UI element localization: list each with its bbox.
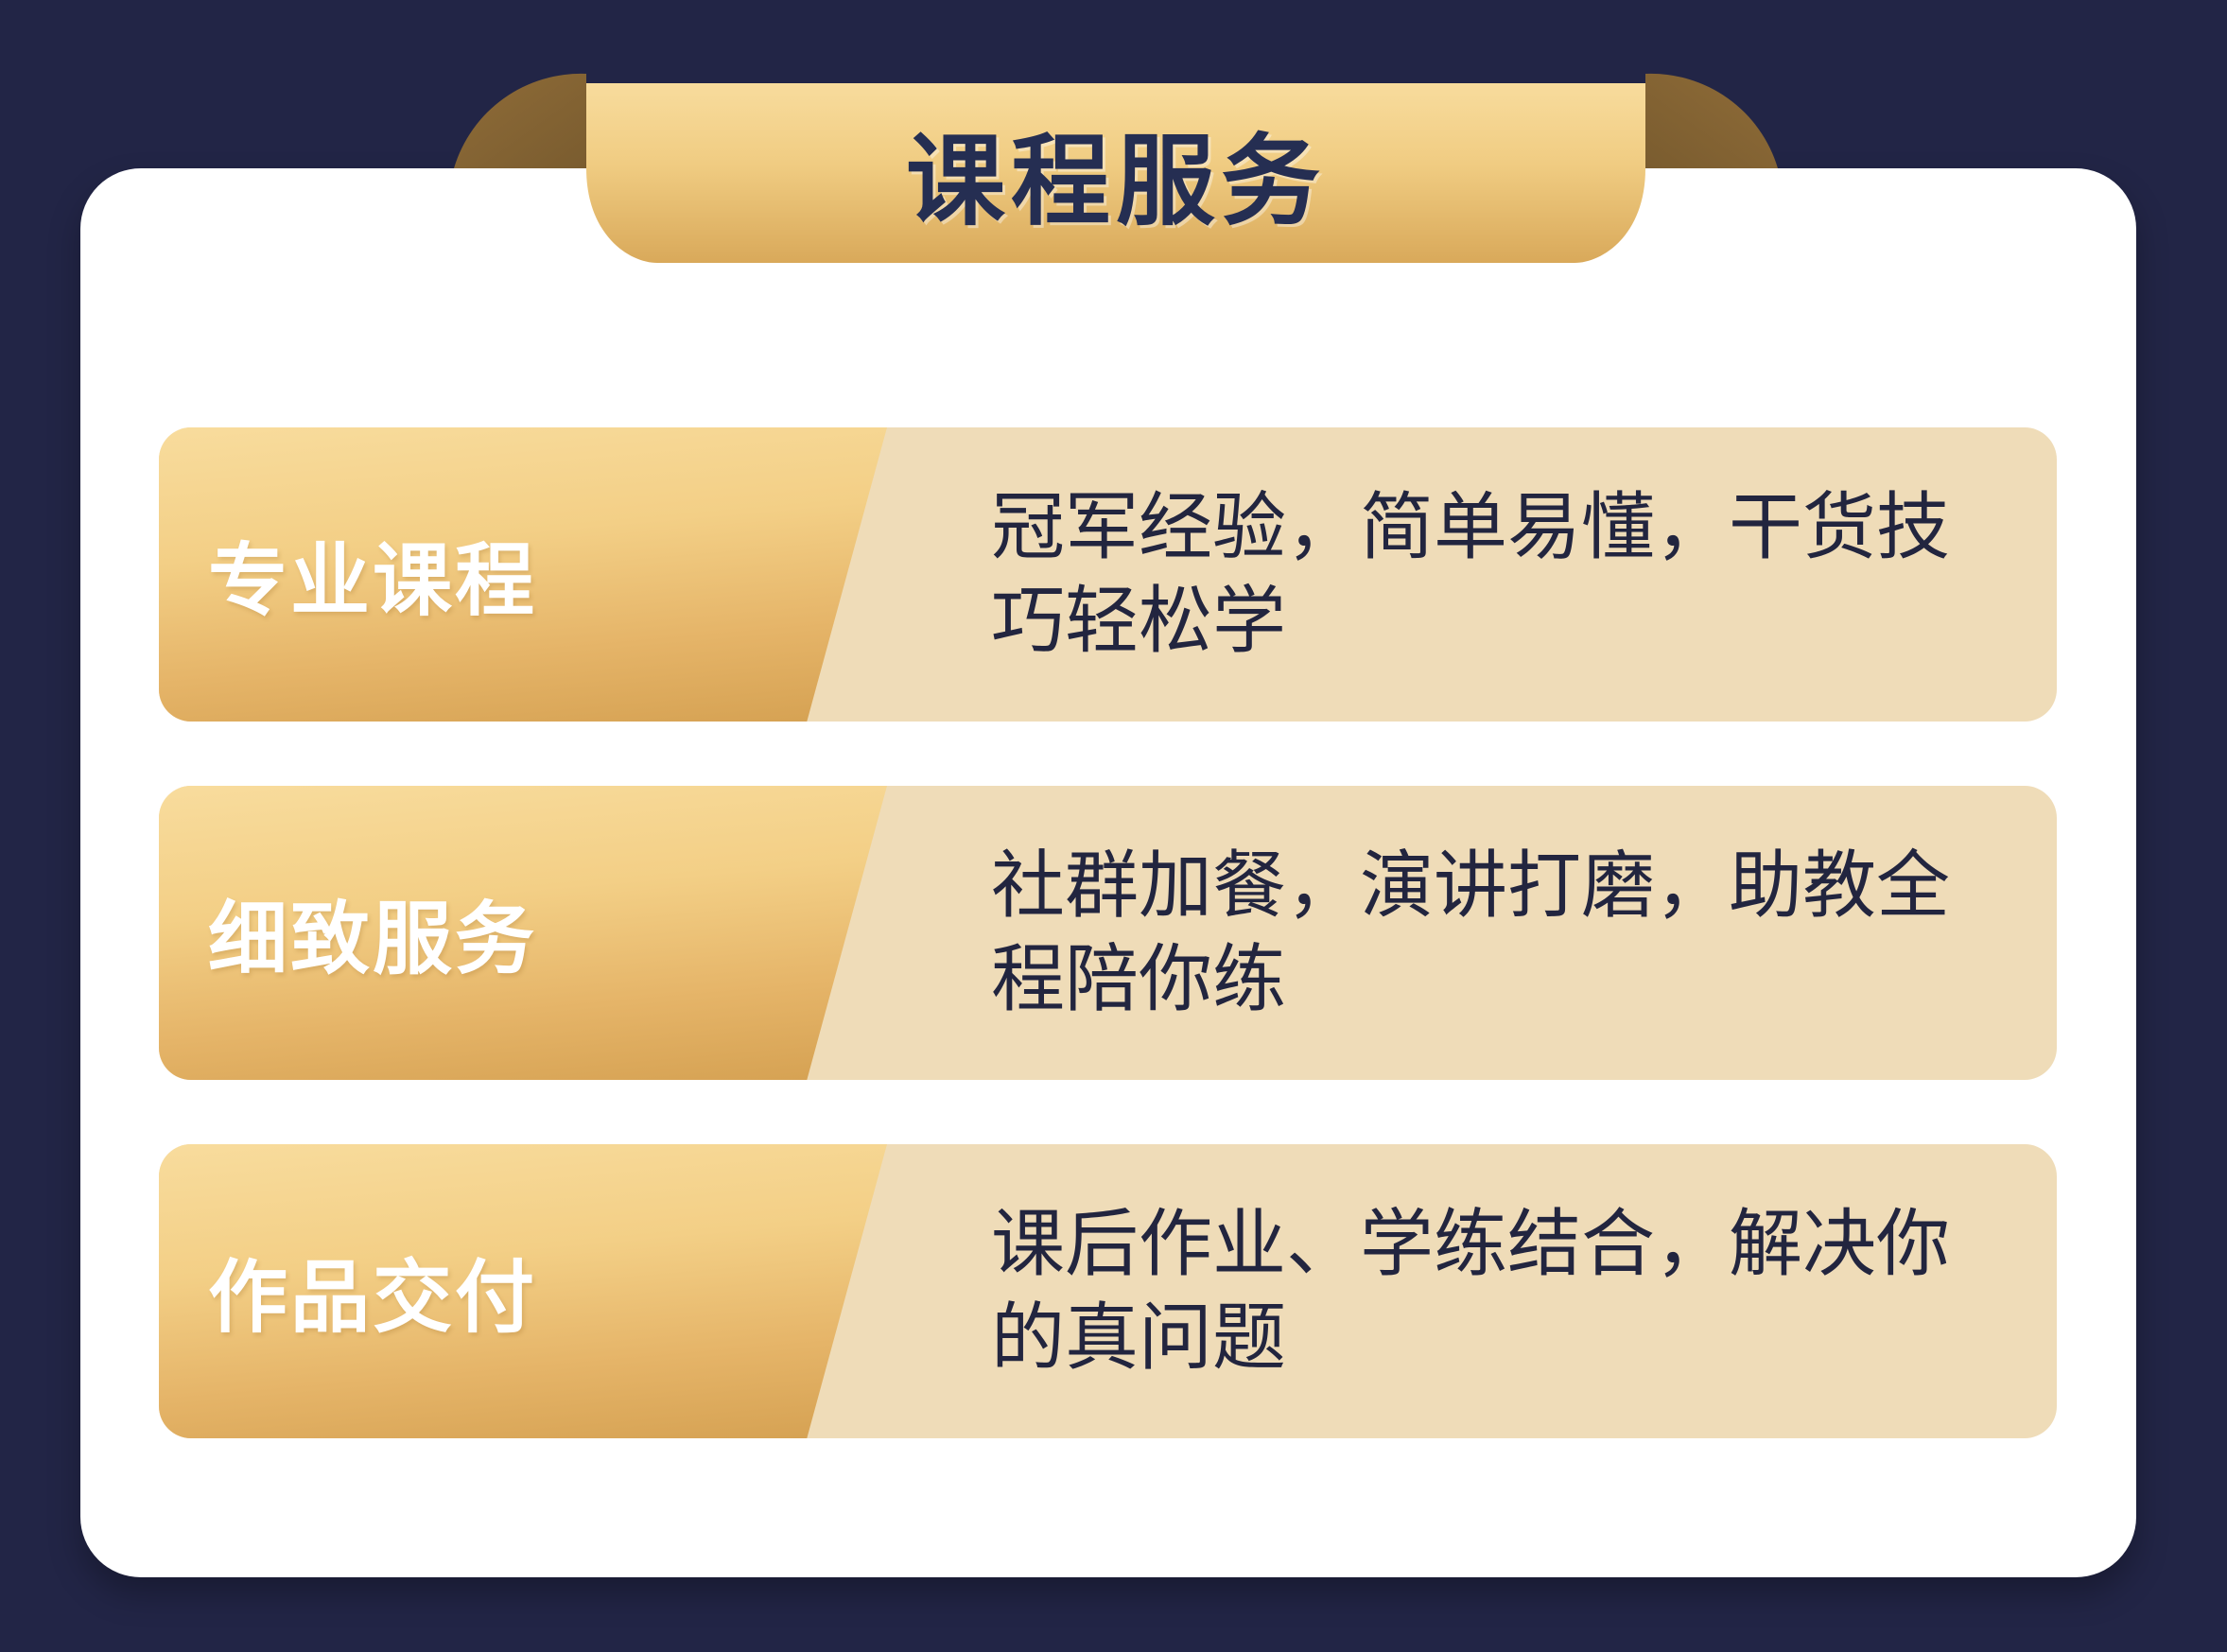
banner-title: 课程服务 [454,83,1778,263]
service-label: 专业课程 [208,517,537,632]
service-label: 作品交付 [208,1234,537,1348]
service-description: 社群加餐，演讲打磨，助教全程陪你练 [991,839,2003,1028]
service-description: 冠军经验，简单易懂，干货技巧轻松学 [991,480,2003,669]
service-row: 专业课程 冠军经验，简单易懂，干货技巧轻松学 [159,427,2057,722]
service-label-chip: 专业课程 [159,427,887,722]
service-label-chip: 细致服务 [159,786,887,1080]
service-label: 细致服务 [208,876,537,990]
service-row: 作品交付 课后作业、学练结合，解决你的真问题 [159,1144,2057,1438]
poster-stage: 课程服务 专业课程 冠军经验，简单易懂，干货技巧轻松学 细致服务 社群加餐，演讲… [0,0,2227,1652]
service-label-chip: 作品交付 [159,1144,887,1438]
service-row: 细致服务 社群加餐，演讲打磨，助教全程陪你练 [159,786,2057,1080]
ribbon-banner: 课程服务 [454,83,1778,316]
service-rows: 专业课程 冠军经验，简单易懂，干货技巧轻松学 细致服务 社群加餐，演讲打磨，助教… [159,427,2057,1438]
service-description: 课后作业、学练结合，解决你的真问题 [991,1197,2003,1386]
